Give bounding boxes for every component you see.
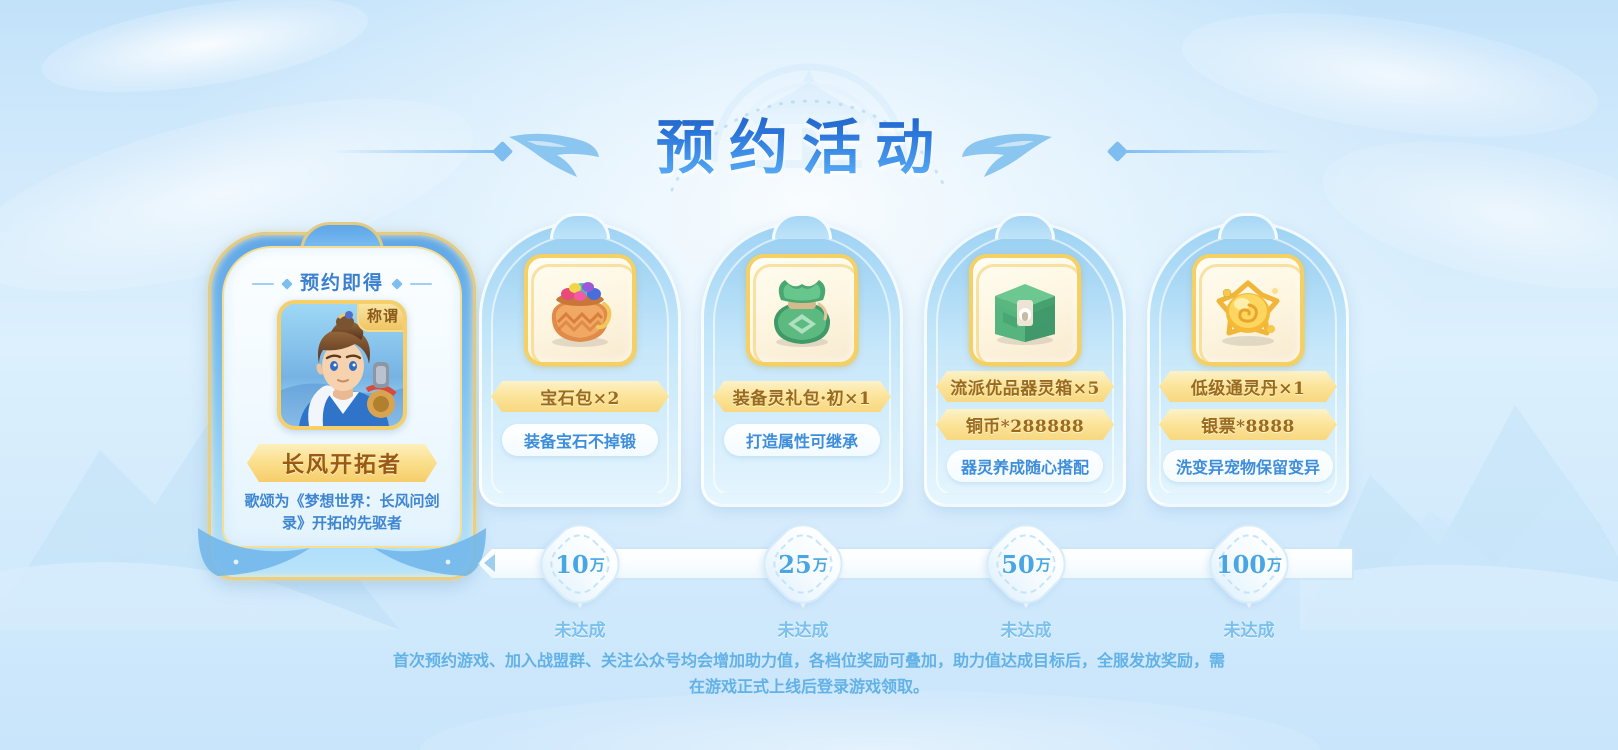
milestone-node[interactable]: 100万 未达成 <box>1213 528 1285 600</box>
reward-label: 宝石包×2 <box>491 381 669 412</box>
progress-track: 10万 未达成 25万 未达成 50万 未达成 100万 <box>0 520 1618 640</box>
reward-perk: 洗变异宠物保留变异 <box>1163 450 1333 482</box>
card-top-notch <box>1218 213 1278 239</box>
reward-card[interactable]: 宝石包×2 装备宝石不掉锻 <box>479 222 681 507</box>
node-value: 25 <box>778 550 811 579</box>
wing-icon <box>505 125 601 188</box>
node-value: 10 <box>555 550 588 579</box>
page-title: 预约活动 <box>656 100 962 185</box>
reward-label: 装备灵礼包·初×1 <box>713 381 891 412</box>
node-label: 10万 <box>544 528 616 600</box>
activity-page: 预约活动 预约即得 <box>0 0 1618 750</box>
node-status: 未达成 <box>1189 616 1309 641</box>
footer-note: 首次预约游戏、加入战盟群、关注公众号均会增加助力值，各档位奖励可叠加，助力值达成… <box>0 648 1618 701</box>
node-unit: 万 <box>813 554 828 575</box>
reward-perk: 打造属性可继承 <box>724 424 880 456</box>
node-label: 25万 <box>767 528 839 600</box>
gem-bag-icon <box>524 254 636 366</box>
wing-icon <box>960 125 1056 188</box>
progress-arrow-icon <box>484 554 495 572</box>
reward-label: 低级通灵丹×1 <box>1159 371 1337 402</box>
node-label: 100万 <box>1213 528 1285 600</box>
milestone-node[interactable]: 10万 未达成 <box>544 528 616 600</box>
reward-label: 银票*8888 <box>1159 409 1337 440</box>
page-title-block: 预约活动 <box>0 20 1618 200</box>
footer-line-2: 在游戏正式上线后登录游戏领取。 <box>280 674 1338 700</box>
reward-label: 铜币*288888 <box>936 409 1114 440</box>
reward-card-list: 宝石包×2 装备宝石不掉锻 装备灵礼包·初×1 <box>0 222 1618 522</box>
node-status: 未达成 <box>520 616 640 641</box>
reward-label: 流派优品器灵箱×5 <box>936 371 1114 402</box>
node-status: 未达成 <box>743 616 863 641</box>
card-top-notch <box>772 213 832 239</box>
title-rule-right <box>1120 150 1290 153</box>
golden-pill-icon <box>1192 254 1304 366</box>
milestone-node[interactable]: 25万 未达成 <box>767 528 839 600</box>
node-unit: 万 <box>1036 554 1051 575</box>
reward-card[interactable]: 流派优品器灵箱×5 铜币*288888 器灵养成随心搭配 <box>924 222 1126 507</box>
node-unit: 万 <box>590 554 605 575</box>
milestone-node[interactable]: 50万 未达成 <box>990 528 1062 600</box>
card-top-notch <box>995 213 1055 239</box>
reward-perk: 装备宝石不掉锻 <box>502 424 658 456</box>
green-pouch-icon <box>746 254 858 366</box>
node-status: 未达成 <box>966 616 1086 641</box>
title-rule-left <box>330 150 500 153</box>
node-value: 50 <box>1001 550 1034 579</box>
card-top-notch <box>550 213 610 239</box>
node-value: 100 <box>1216 550 1266 579</box>
reward-card[interactable]: 低级通灵丹×1 银票*8888 洗变异宠物保留变异 <box>1147 222 1349 507</box>
node-unit: 万 <box>1267 554 1282 575</box>
footer-line-1: 首次预约游戏、加入战盟群、关注公众号均会增加助力值，各档位奖励可叠加，助力值达成… <box>280 648 1338 674</box>
reward-card[interactable]: 装备灵礼包·初×1 打造属性可继承 <box>701 222 903 507</box>
node-label: 50万 <box>990 528 1062 600</box>
reward-perk: 器灵养成随心搭配 <box>947 450 1103 482</box>
title-diamond-right <box>1107 141 1128 162</box>
green-chest-icon <box>969 254 1081 366</box>
